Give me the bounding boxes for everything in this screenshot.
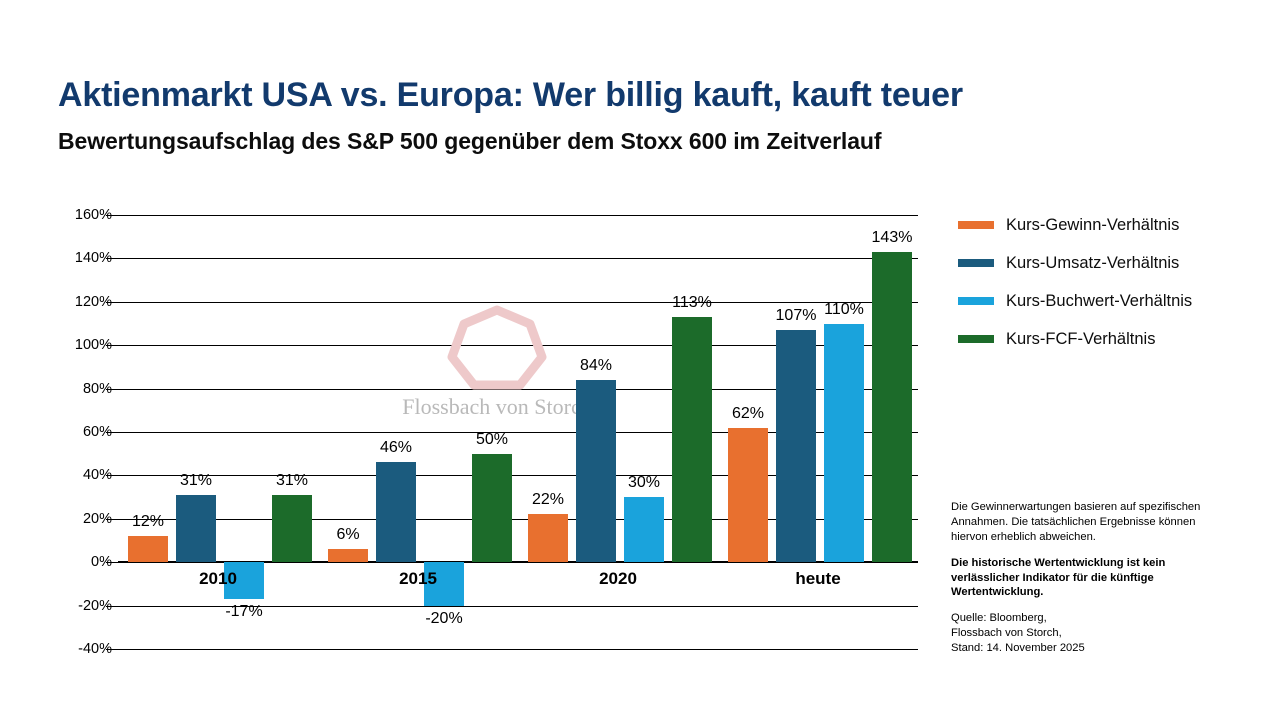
x-category-label: 2015 xyxy=(318,569,518,589)
footnote-line: Die historische Wertentwicklung ist kein xyxy=(951,556,1251,571)
bar[interactable] xyxy=(672,317,712,562)
bar-value-label: 50% xyxy=(459,431,525,449)
bar-value-label: 31% xyxy=(163,472,229,490)
y-tick-label: 20% xyxy=(12,511,112,527)
bar-value-label: -17% xyxy=(211,603,277,621)
bar-value-label: 110% xyxy=(811,301,877,319)
y-tick-mark xyxy=(106,432,118,433)
y-tick-mark xyxy=(106,562,118,563)
legend-label: Kurs-Buchwert-Verhältnis xyxy=(1006,292,1192,311)
y-tick-mark xyxy=(106,389,118,390)
y-tick-mark xyxy=(106,215,118,216)
y-tick-label: -40% xyxy=(12,641,112,657)
legend-swatch-icon xyxy=(958,335,994,343)
bar-value-label: 6% xyxy=(315,526,381,544)
bar[interactable] xyxy=(624,497,664,562)
bar-value-label: -20% xyxy=(411,610,477,628)
footnote-line: Annahmen. Die tatsächlichen Ergebnisse k… xyxy=(951,515,1251,530)
bar[interactable] xyxy=(128,536,168,562)
y-tick-mark xyxy=(106,258,118,259)
x-category-label: heute xyxy=(718,569,918,589)
y-tick-label: 60% xyxy=(12,424,112,440)
bar[interactable] xyxy=(376,462,416,562)
bar[interactable] xyxy=(872,252,912,562)
x-category-label: 2020 xyxy=(518,569,718,589)
footnote-line: Die Gewinnerwartungen basieren auf spezi… xyxy=(951,500,1251,515)
bar-value-label: 84% xyxy=(563,357,629,375)
page-title: Aktienmarkt USA vs. Europa: Wer billig k… xyxy=(58,76,963,115)
legend-swatch-icon xyxy=(958,297,994,305)
legend-label: Kurs-Gewinn-Verhältnis xyxy=(1006,216,1179,235)
y-tick-label: 80% xyxy=(12,381,112,397)
footnote-historic-warning: Die historische Wertentwicklung ist kein… xyxy=(951,556,1251,601)
bar[interactable] xyxy=(576,380,616,562)
y-tick-label: 160% xyxy=(12,207,112,223)
footnote-disclaimer: Die Gewinnerwartungen basieren auf spezi… xyxy=(951,500,1251,545)
footnote-source: Quelle: Bloomberg,Flossbach von Storch,S… xyxy=(951,611,1251,656)
bar[interactable] xyxy=(728,428,768,563)
bar[interactable] xyxy=(824,324,864,563)
page-subtitle: Bewertungsaufschlag des S&P 500 gegenübe… xyxy=(58,128,881,155)
bars-layer: 12%31%-17%31%20106%46%-20%50%201522%84%3… xyxy=(118,215,918,649)
chart-page: Aktienmarkt USA vs. Europa: Wer billig k… xyxy=(0,0,1280,720)
legend-item[interactable]: Kurs-Gewinn-Verhältnis xyxy=(958,206,1258,244)
legend-item[interactable]: Kurs-FCF-Verhältnis xyxy=(958,320,1258,358)
y-tick-mark xyxy=(106,606,118,607)
footnote-line: Stand: 14. November 2025 xyxy=(951,641,1251,656)
footnote-line: Flossbach von Storch, xyxy=(951,626,1251,641)
y-tick-mark xyxy=(106,649,118,650)
footnote-line: verlässlicher Indikator für die künftige xyxy=(951,571,1251,586)
legend-swatch-icon xyxy=(958,221,994,229)
y-tick-label: 120% xyxy=(12,294,112,310)
footnote-line: hiervon erheblich abweichen. xyxy=(951,530,1251,545)
legend: Kurs-Gewinn-VerhältnisKurs-Umsatz-Verhäl… xyxy=(958,206,1258,358)
legend-item[interactable]: Kurs-Buchwert-Verhältnis xyxy=(958,282,1258,320)
legend-label: Kurs-FCF-Verhältnis xyxy=(1006,330,1155,349)
bar-value-label: 31% xyxy=(259,472,325,490)
bar-value-label: 46% xyxy=(363,439,429,457)
gridline xyxy=(118,649,918,650)
bar-value-label: 22% xyxy=(515,491,581,509)
legend-item[interactable]: Kurs-Umsatz-Verhältnis xyxy=(958,244,1258,282)
footnotes: Die Gewinnerwartungen basieren auf spezi… xyxy=(951,500,1251,667)
bar[interactable] xyxy=(328,549,368,562)
bar[interactable] xyxy=(176,495,216,562)
footnote-line: Wertentwicklung. xyxy=(951,585,1251,600)
footnote-line: Quelle: Bloomberg, xyxy=(951,611,1251,626)
bar-value-label: 143% xyxy=(859,229,925,247)
y-axis: 160%140%120%100%80%60%40%20%0%-20%-40% xyxy=(0,215,112,649)
y-tick-label: 100% xyxy=(12,337,112,353)
y-tick-label: -20% xyxy=(12,598,112,614)
y-tick-mark xyxy=(106,302,118,303)
y-tick-label: 140% xyxy=(12,250,112,266)
y-tick-label: 40% xyxy=(12,467,112,483)
y-tick-label: 0% xyxy=(12,554,112,570)
bar-value-label: 113% xyxy=(659,294,725,312)
bar-value-label: 62% xyxy=(715,405,781,423)
bar[interactable] xyxy=(528,514,568,562)
bar-value-label: 12% xyxy=(115,513,181,531)
y-tick-mark xyxy=(106,475,118,476)
bar[interactable] xyxy=(472,454,512,563)
x-category-label: 2010 xyxy=(118,569,318,589)
legend-swatch-icon xyxy=(958,259,994,267)
legend-label: Kurs-Umsatz-Verhältnis xyxy=(1006,254,1179,273)
bar[interactable] xyxy=(272,495,312,562)
bar[interactable] xyxy=(776,330,816,562)
y-tick-mark xyxy=(106,345,118,346)
bar-value-label: 30% xyxy=(611,474,677,492)
